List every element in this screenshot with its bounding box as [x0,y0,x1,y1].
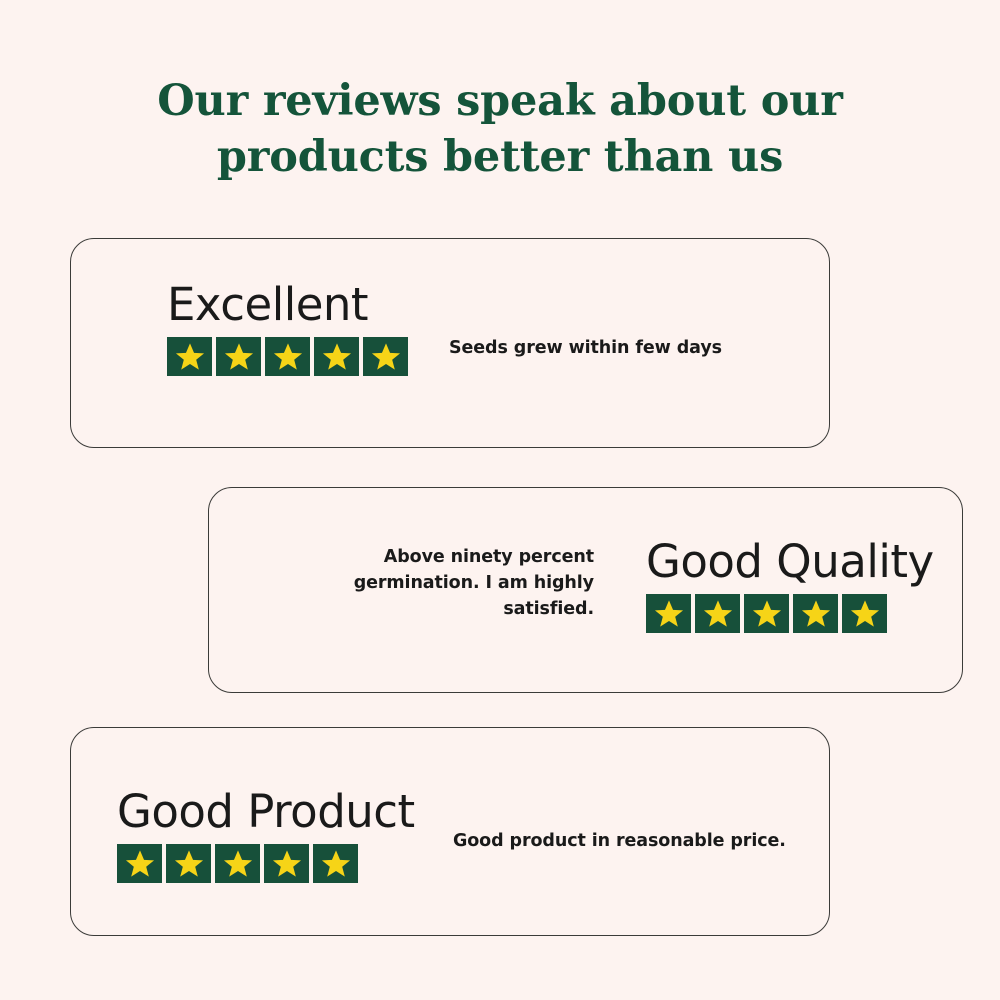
star-icon [117,844,162,883]
rating-title: Good Quality [646,536,934,588]
page-title: Our reviews speak about our products bet… [0,73,1000,185]
review-card: Above ninety percent germination. I am h… [208,487,963,693]
star-icon [842,594,887,633]
review-text: Above ninety percent germination. I am h… [329,544,594,622]
review-card: Good Product Good product in reasonable … [70,727,830,936]
page-title-line-1: Our reviews speak about our [0,73,1000,129]
review-card-content: Above ninety percent germination. I am h… [209,488,962,692]
star-icon [744,594,789,633]
review-card: Excellent Seeds grew within few days [70,238,830,448]
star-icon [363,337,408,376]
rating-title: Good Product [117,786,415,838]
star-icon [265,337,310,376]
rating-title: Excellent [167,279,408,331]
rating-block: Good Quality [646,536,934,633]
star-icon [314,337,359,376]
star-icon [695,594,740,633]
star-icon [313,844,358,883]
star-icon [264,844,309,883]
star-rating [167,337,408,376]
star-icon [215,844,260,883]
review-text: Seeds grew within few days [449,335,722,361]
star-icon [167,337,212,376]
review-text: Good product in reasonable price. [453,828,786,854]
page-title-line-2: products better than us [0,129,1000,185]
star-icon [216,337,261,376]
star-icon [646,594,691,633]
review-card-content: Good Product Good product in reasonable … [71,728,829,935]
star-rating [646,594,934,633]
rating-block: Good Product [117,786,415,883]
star-icon [166,844,211,883]
star-rating [117,844,415,883]
review-card-content: Excellent Seeds grew within few days [71,239,829,447]
star-icon [793,594,838,633]
rating-block: Excellent [167,279,408,376]
